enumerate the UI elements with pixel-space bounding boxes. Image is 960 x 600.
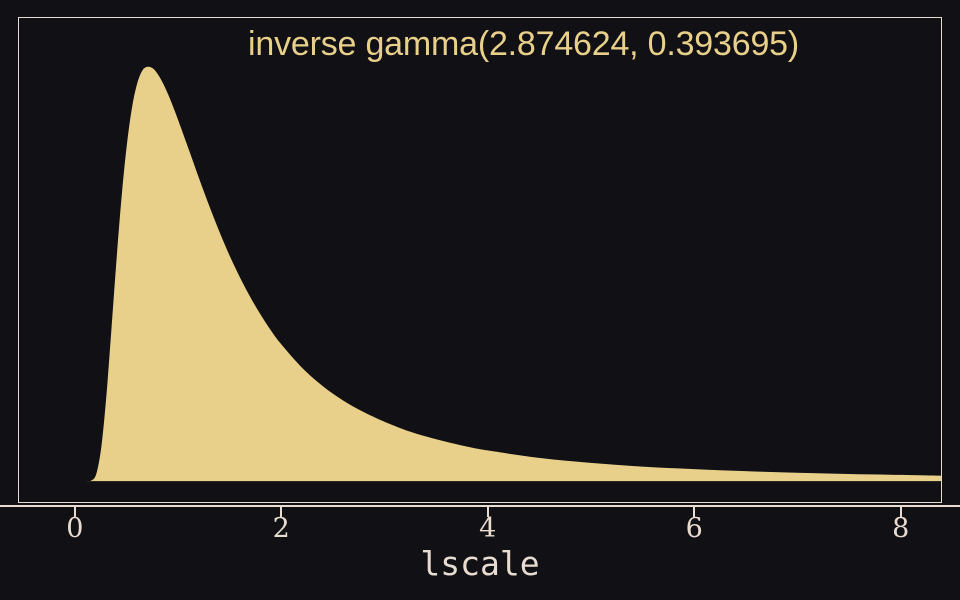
plot-panel [18,17,942,503]
density-plot-svg [19,18,941,502]
x-tick-label: 4 [458,513,518,545]
chart-title: inverse gamma(2.874624, 0.393695) [248,24,799,64]
chart-screenshot: inverse gamma(2.874624, 0.393695) 02468 … [0,0,960,600]
x-tick-label: 2 [251,513,311,545]
x-tick-label: 8 [871,513,931,545]
x-tick-label: 0 [45,513,105,545]
x-tick-label: 6 [664,513,724,545]
x-axis-line [0,505,960,507]
x-axis-title: lscale [0,544,960,584]
density-area-path [19,67,941,482]
